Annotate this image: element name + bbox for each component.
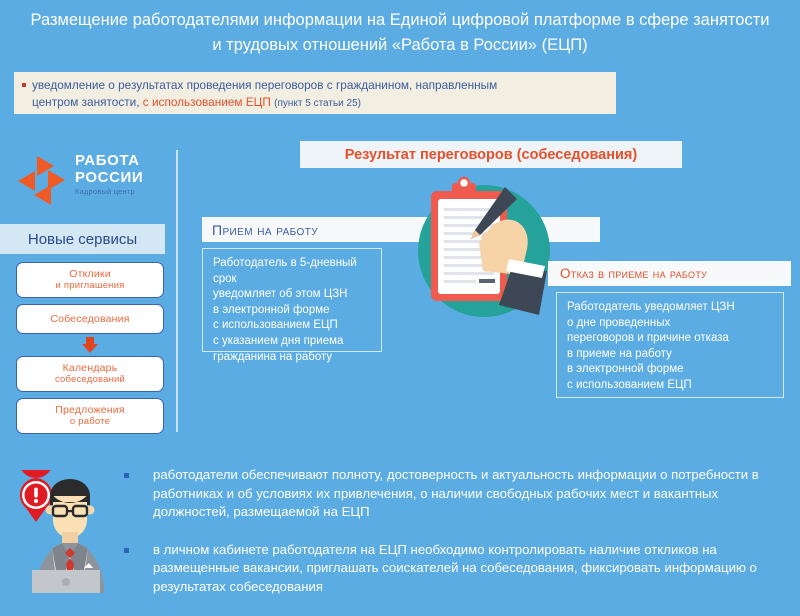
hiring-line: гражданина на работу: [213, 350, 372, 366]
logo-subtitle: Кадровый центр: [75, 187, 143, 196]
refusal-line: в электронной форме: [567, 362, 774, 378]
hiring-line: с указанием дня приема: [213, 334, 372, 350]
refusal-subheading-label: Отказ в приеме на работу: [548, 266, 707, 281]
logo: РАБОТА РОССИИ Кадровый центр: [18, 152, 170, 214]
arrow-down-icon: [82, 337, 98, 353]
sidebar-item-predlozheniya[interactable]: Предложения о работе: [16, 398, 164, 434]
refusal-text-box: Работодатель уведомляет ЦЗН о дне провед…: [556, 292, 784, 398]
logo-mark-icon: [18, 156, 70, 206]
hiring-text-box: Работодатель в 5-дневный срок уведомляет…: [202, 248, 382, 352]
refusal-subheading-band: Отказ в приеме на работу: [548, 261, 791, 286]
sidebar-item-kalendar-label-2: собеседований: [55, 374, 125, 387]
hiring-line: с использованием ЕЦП: [213, 318, 372, 334]
sidebar-item-kalendar[interactable]: Календарь собеседований: [16, 356, 164, 392]
footer-bullet-item: работодатели обеспечивают полноту, досто…: [124, 466, 784, 522]
sidebar-item-otkliki[interactable]: Отклики и приглашения: [16, 262, 164, 298]
refusal-line: о дне проведенных: [567, 316, 774, 332]
notice-line-2-highlight: с использованием ЕЦП: [143, 95, 271, 109]
sidebar-item-otkliki-label-2: и приглашения: [56, 280, 125, 293]
footer-bullet-text: работодатели обеспечивают полноту, досто…: [153, 466, 784, 522]
refusal-line: Работодатель уведомляет ЦЗН: [567, 300, 774, 316]
sidebar-item-sobesedovaniya[interactable]: Собеседования: [16, 304, 164, 334]
hiring-line: в электронной форме: [213, 303, 372, 319]
sidebar-item-sobesedovaniya-label: Собеседования: [50, 313, 129, 326]
notice-banner: уведомление о результатах проведения пер…: [14, 72, 616, 114]
vertical-divider: [176, 150, 178, 432]
notice-line-2-prefix: центром занятости,: [32, 95, 140, 109]
logo-name-line-1: РАБОТА: [75, 152, 143, 169]
sidebar-item-predlozheniya-label-1: Предложения: [55, 404, 125, 417]
main-heading-label: Результат переговоров (собеседования): [345, 147, 637, 163]
square-bullet-icon: [124, 548, 129, 553]
notice-line-1: уведомление о результатах проведения пер…: [32, 77, 606, 94]
refusal-line: в приеме на работу: [567, 347, 774, 363]
notice-line-2: центром занятости, с использованием ЕЦП …: [32, 94, 606, 113]
slide-root: Размещение работодателями информации на …: [0, 0, 800, 593]
footer-bullets: работодатели обеспечивают полноту, досто…: [124, 466, 784, 616]
hiring-line: уведомляет об этом ЦЗН: [213, 287, 372, 303]
services-band: Новые сервисы: [0, 224, 165, 254]
clipboard-hand-pen-icon: [405, 173, 565, 333]
sidebar-item-otkliki-label-1: Отклики: [69, 268, 111, 281]
sidebar-item-kalendar-label-1: Календарь: [63, 362, 118, 375]
hiring-line: Работодатель в 5-дневный срок: [213, 256, 372, 287]
hiring-subheading-label: Прием на работу: [202, 222, 318, 238]
page-title: Размещение работодателями информации на …: [26, 8, 774, 58]
notice-line-2-note: (пункт 5 статьи 25): [274, 98, 361, 109]
logo-name-line-2: РОССИИ: [75, 169, 143, 186]
main-heading-band: Результат переговоров (собеседования): [300, 141, 682, 168]
footer-bullet-item: в личном кабинете работодателя на ЕЦП не…: [124, 541, 784, 597]
square-bullet-icon: [22, 83, 26, 87]
footer-bullet-text: в личном кабинете работодателя на ЕЦП не…: [153, 541, 784, 597]
businessman-laptop-icon: [6, 470, 126, 593]
square-bullet-icon: [124, 473, 129, 478]
refusal-line: с использованием ЕЦП: [567, 378, 774, 394]
services-band-label: Новые сервисы: [28, 231, 137, 248]
refusal-line: переговоров и причине отказа: [567, 331, 774, 347]
sidebar-item-predlozheniya-label-2: о работе: [70, 416, 110, 429]
